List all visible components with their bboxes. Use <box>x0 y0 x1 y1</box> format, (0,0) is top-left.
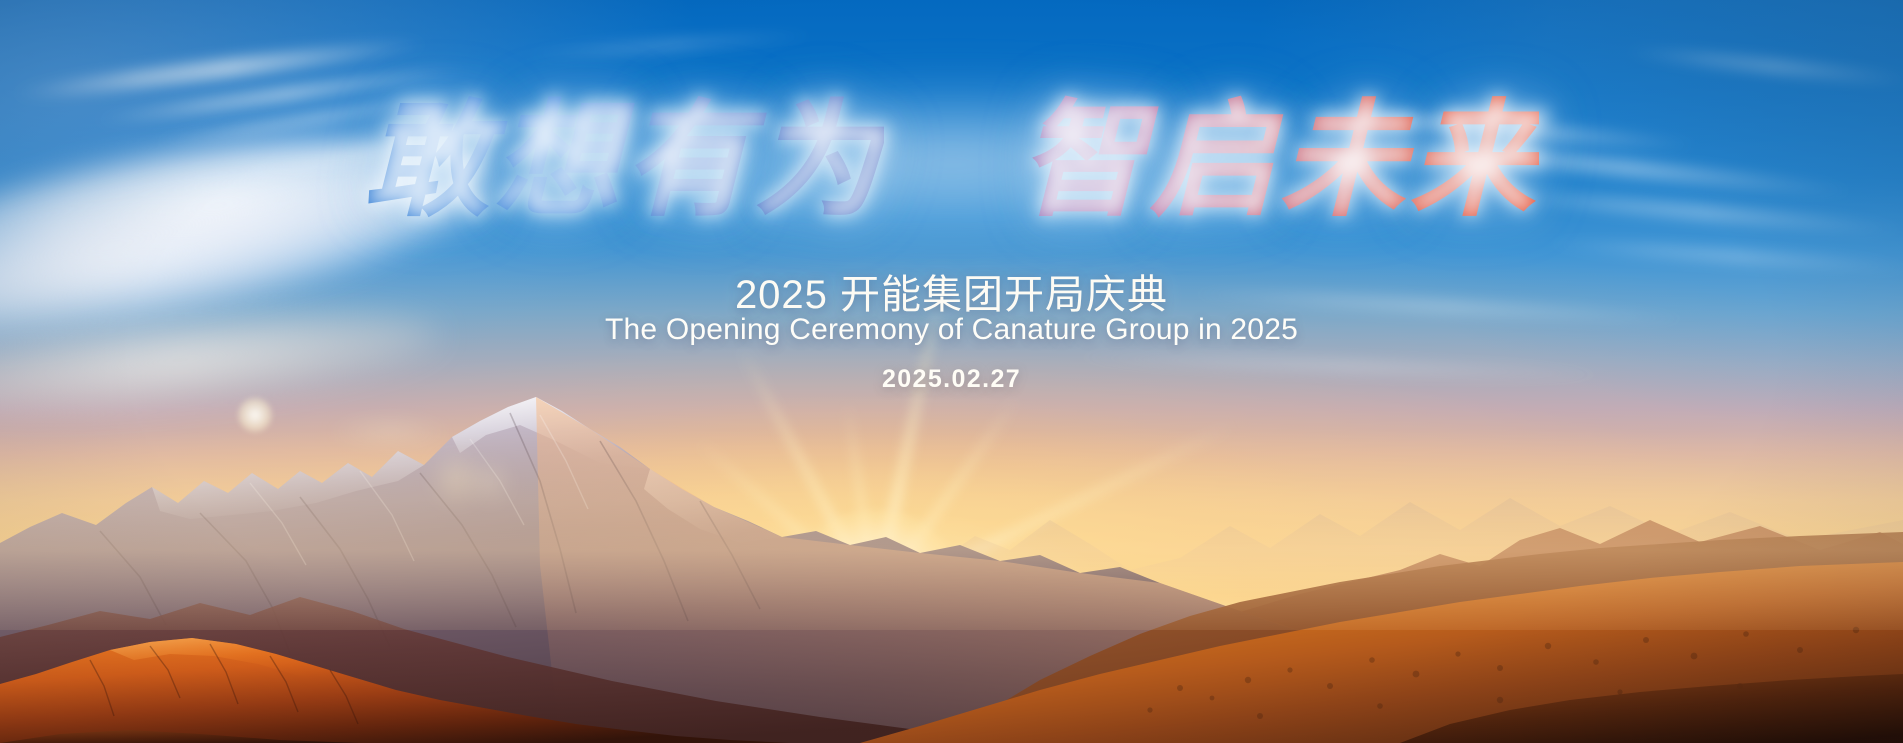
banner-content: 敢想有为 智启未来 2025 开能集团开局庆典 The Opening Cere… <box>0 0 1903 743</box>
headline-part-two: 智启未来 <box>1019 86 1539 234</box>
headline-calligraphy: 敢想有为 智启未来 <box>364 80 1540 241</box>
subtitle-chinese: 2025 开能集团开局庆典 <box>0 262 1903 320</box>
headline-block: 敢想有为 智启未来 <box>0 80 1903 241</box>
event-banner: 敢想有为 智启未来 2025 开能集团开局庆典 The Opening Cere… <box>0 0 1903 743</box>
event-date: 2025.02.27 <box>0 365 1903 394</box>
subtitle-english: The Opening Ceremony of Canature Group i… <box>0 313 1903 347</box>
headline-part-one: 敢想有为 <box>364 86 884 234</box>
